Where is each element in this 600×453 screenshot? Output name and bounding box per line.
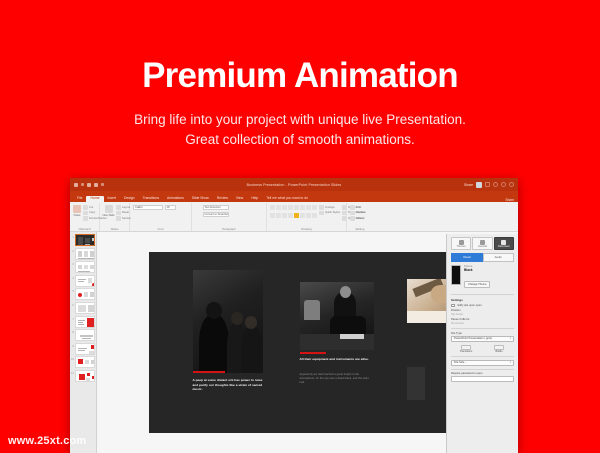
tab-themes[interactable]: Themes: [451, 237, 471, 250]
fill-bucket-icon: [342, 205, 347, 210]
quick-styles-button[interactable]: Quick Styles: [319, 211, 340, 216]
copy-label: Copy: [89, 211, 95, 214]
properties-tab-strip: Themes General Document: [451, 237, 514, 250]
slide-thumbnail[interactable]: [75, 288, 95, 300]
theme-value: Black: [464, 268, 490, 272]
divider: [451, 294, 514, 295]
group-label-clipboard: Clipboard: [73, 227, 96, 232]
reset-icon: [116, 211, 121, 216]
visual-audio-segmented-control[interactable]: Visual Audio: [451, 253, 514, 261]
accent-bar-1: [193, 371, 225, 373]
slide-caption-1[interactable]: A peep at some distant orb has power to …: [193, 378, 265, 392]
divider: [451, 356, 514, 357]
reset-button[interactable]: Reset: [116, 211, 131, 216]
watermark: www.25xt.com: [8, 435, 86, 447]
file-size-label: File Size...: [454, 361, 467, 364]
chevron-down-icon: ▾: [510, 337, 511, 340]
divider: [451, 328, 514, 329]
tab-general-label: General: [478, 245, 487, 248]
file-size-select[interactable]: File Size... ▾: [451, 360, 514, 366]
segment-visual[interactable]: Visual: [451, 253, 483, 261]
list-item[interactable]: 10: [71, 356, 95, 368]
slide-thumbnail[interactable]: [75, 234, 95, 246]
slide-caption-2-body[interactable]: Apparently we had reached a great height…: [300, 373, 374, 386]
tab-insert[interactable]: Insert: [104, 196, 120, 202]
slide-number: 5: [71, 288, 74, 293]
layout-label: Layout: [122, 206, 130, 209]
slide-number: 6: [71, 302, 74, 307]
paintbrush-icon: [83, 216, 88, 221]
slide-thumbnail-panel[interactable]: 1 2 3: [70, 232, 97, 453]
document-icon: [501, 240, 506, 245]
shape-banner-icon[interactable]: [300, 213, 305, 218]
slide-thumbnail[interactable]: [75, 329, 95, 341]
divider: [451, 369, 514, 370]
slide-thumbnail[interactable]: [75, 370, 95, 382]
arrange-icon: [319, 205, 324, 210]
shape-rounded-icon[interactable]: [276, 205, 281, 210]
scissors-icon: [83, 205, 88, 210]
tab-document-label: Document: [498, 245, 509, 248]
shape-flow-icon[interactable]: [306, 213, 311, 218]
convert-to-smartart-button[interactable]: Convert to SmartArt: [203, 212, 229, 217]
arrange-button[interactable]: Arrange: [319, 205, 340, 210]
replace-button[interactable]: Replace: [350, 211, 370, 216]
list-item[interactable]: 5: [71, 288, 95, 300]
accent-bar-2: [300, 352, 326, 354]
tab-slide-show[interactable]: Slide Show: [188, 196, 213, 202]
tab-design[interactable]: Design: [120, 196, 139, 202]
list-item[interactable]: 3: [71, 261, 95, 273]
hero-subtitle-line-2: Great collection of smooth animations.: [0, 130, 600, 150]
builds-icon[interactable]: [494, 345, 504, 350]
properties-panel[interactable]: Themes General Document Visual Audio The…: [446, 234, 518, 453]
shape-rect-icon[interactable]: [270, 205, 275, 210]
section-button[interactable]: Section: [116, 216, 131, 221]
section-icon: [116, 216, 121, 221]
slide-number: 10: [71, 356, 74, 361]
arrange-label: Arrange: [325, 206, 335, 209]
powerpoint-window: Business Presentation - PowerPoint Prese…: [70, 178, 518, 453]
new-slide-label: New Slide: [102, 214, 114, 217]
idle-value: 30 seconds: [451, 322, 514, 325]
slide-photo-2[interactable]: [300, 282, 374, 350]
gear-icon: [480, 240, 485, 245]
tab-document[interactable]: Document: [494, 237, 514, 250]
page-title: Premium Animation: [0, 58, 600, 93]
select-label: Select: [356, 217, 363, 220]
list-item[interactable]: 8: [71, 329, 95, 341]
slide-thumbnail[interactable]: [75, 343, 95, 355]
tab-view[interactable]: View: [232, 196, 247, 202]
paint-palette-icon: [459, 240, 464, 245]
shape-triangle-icon[interactable]: [288, 205, 293, 210]
theme-row: Theme Black Change Theme: [451, 265, 514, 291]
shape-highlight-icon[interactable]: [294, 213, 299, 218]
segment-audio[interactable]: Audio: [483, 253, 515, 261]
tab-transitions[interactable]: Transitions: [139, 196, 163, 202]
slide-photo-1[interactable]: [193, 270, 263, 373]
hero-subtitle: Bring life into your project with unique…: [0, 110, 600, 149]
copy-icon: [83, 211, 88, 216]
slide-caption-2-heading[interactable]: All their equipment and instruments are …: [300, 357, 374, 362]
shape-cross-icon[interactable]: [288, 213, 293, 218]
font-name-input[interactable]: Calibri: [133, 205, 163, 210]
hero-subtitle-line-1: Bring life into your project with unique…: [0, 110, 600, 130]
window-titlebar: Business Presentation - PowerPoint Prese…: [70, 178, 518, 191]
ribbon-group-paragraph: Text Direction Convert to SmartArt Parag…: [192, 203, 267, 231]
slide-number: 9: [71, 343, 74, 348]
ribbon-group-font: Calibri 18 Font: [130, 203, 192, 231]
find-label: Find: [356, 206, 361, 209]
transitions-label: Transitions: [451, 350, 481, 353]
slide-thumbnail[interactable]: [75, 316, 95, 328]
quick-styles-icon: [319, 211, 324, 216]
builds-toggle[interactable]: Builds: [484, 345, 514, 354]
font-size-input[interactable]: 18: [165, 205, 176, 210]
notify-on-open-checkbox[interactable]: Notify site upon open: [451, 304, 514, 308]
effects-icon: [342, 216, 347, 221]
shape-diamond-icon[interactable]: [282, 213, 287, 218]
slide-number: 1: [71, 234, 74, 239]
position-label: Position: [451, 309, 514, 312]
position-value: Top Center: [451, 313, 514, 316]
group-label-editing: Editing: [350, 227, 370, 232]
ribbon-group-slides: New Slide Layout Reset Section: [100, 203, 130, 231]
slide-thumbnail[interactable]: [75, 248, 95, 260]
paste-label: Paste: [74, 214, 81, 217]
ribbon-group-clipboard: Paste Cut Copy Format Painter: [70, 203, 100, 231]
slide-number: 8: [71, 329, 74, 334]
tab-file[interactable]: File: [73, 196, 86, 202]
cut-label: Cut: [89, 206, 93, 209]
tab-themes-label: Themes: [457, 245, 466, 248]
group-label-drawing: Drawing: [270, 227, 343, 232]
ribbon-group-editing: Find Replace Select Editing: [347, 203, 373, 231]
file-type-value: PowerPoint Presentation (.pptx): [454, 337, 492, 340]
active-slide[interactable]: A peep at some distant orb has power to …: [149, 252, 467, 433]
slide-number: 11: [71, 370, 74, 375]
select-icon: [350, 216, 355, 221]
password-input[interactable]: [451, 376, 514, 382]
ribbon-group-drawing: Arrange Quick Styles Shape Fill Shape Ou…: [267, 203, 347, 231]
ribbon-tab-strip: File Home Insert Design Transitions Anim…: [70, 191, 518, 202]
paste-icon: [73, 205, 81, 213]
theme-swatch[interactable]: [451, 265, 461, 285]
search-icon: [350, 205, 355, 210]
notify-on-open-label: Notify site upon open: [457, 304, 482, 307]
tell-me-search[interactable]: Tell me what you want to do: [262, 196, 312, 202]
reset-label: Reset: [122, 211, 129, 214]
layout-icon: [116, 205, 121, 210]
list-item[interactable]: 7: [71, 316, 95, 328]
change-theme-button[interactable]: Change Theme: [464, 281, 490, 288]
slide-shape-block[interactable]: [407, 367, 425, 400]
builds-label: Builds: [484, 350, 514, 353]
ribbon-share-area[interactable]: Share: [505, 198, 514, 202]
replace-icon: [350, 211, 355, 216]
slide-thumbnail[interactable]: [75, 261, 95, 273]
tab-animations[interactable]: Animations: [163, 196, 188, 202]
slide-number: 3: [71, 261, 74, 266]
transitions-icon[interactable]: [461, 345, 471, 350]
shape-callout-icon[interactable]: [312, 205, 317, 210]
list-item[interactable]: 6: [71, 302, 95, 314]
chevron-down-icon: ▾: [510, 361, 511, 364]
file-type-label: File Type: [451, 332, 514, 335]
slide-number: 7: [71, 316, 74, 321]
window-title: Business Presentation - PowerPoint Prese…: [70, 183, 518, 187]
slide-thumbnail[interactable]: [75, 302, 95, 314]
replace-label: Replace: [356, 211, 366, 214]
outline-icon: [342, 211, 347, 216]
password-label: Require password to open: [451, 372, 514, 375]
paste-button[interactable]: Paste: [73, 205, 81, 217]
transition-build-toggles: Transitions Builds: [451, 345, 514, 354]
group-label-font: Font: [133, 227, 188, 232]
layout-button[interactable]: Layout: [116, 205, 131, 210]
file-type-select[interactable]: PowerPoint Presentation (.pptx) ▾: [451, 336, 514, 342]
transitions-toggle[interactable]: Transitions: [451, 345, 481, 354]
list-item[interactable]: 11: [71, 370, 95, 382]
checkbox-icon[interactable]: [451, 304, 455, 308]
new-slide-icon: [105, 205, 113, 213]
list-item[interactable]: 1: [71, 234, 95, 246]
slide-number: 4: [71, 275, 74, 280]
group-label-slides: Slides: [103, 227, 126, 232]
group-label-paragraph: Paragraph: [195, 227, 263, 232]
list-item[interactable]: 4: [71, 275, 95, 287]
list-item[interactable]: 2: [71, 248, 95, 260]
new-slide-button[interactable]: New Slide: [103, 205, 114, 217]
text-direction-button[interactable]: Text Direction: [203, 205, 229, 210]
idle-label: Pause if idle for: [451, 318, 514, 321]
hero-section: Premium Animation Bring life into your p…: [0, 0, 600, 149]
ribbon-share-label[interactable]: Share: [505, 198, 514, 202]
tab-review[interactable]: Review: [213, 196, 232, 202]
shapes-gallery[interactable]: [270, 205, 317, 221]
tab-general[interactable]: General: [472, 237, 492, 250]
slide-thumbnail[interactable]: [75, 275, 95, 287]
shape-more-icon[interactable]: [312, 213, 317, 218]
quick-styles-label: Quick Styles: [325, 211, 340, 214]
shape-star-icon[interactable]: [306, 205, 311, 210]
theme-meta: Theme Black Change Theme: [464, 265, 490, 291]
shape-hexagon-icon[interactable]: [276, 213, 281, 218]
list-item[interactable]: 9: [71, 343, 95, 355]
shape-arrow-icon[interactable]: [294, 205, 299, 210]
shape-pentagon-icon[interactable]: [270, 213, 275, 218]
select-button[interactable]: Select: [350, 216, 370, 221]
slide-number: 2: [71, 248, 74, 253]
settings-heading: Settings: [451, 298, 514, 302]
shape-oval-icon[interactable]: [282, 205, 287, 210]
slide-thumbnail[interactable]: [75, 356, 95, 368]
ribbon-toolbar: Paste Cut Copy Format Painter: [70, 202, 518, 232]
shape-line-icon[interactable]: [300, 205, 305, 210]
find-button[interactable]: Find: [350, 205, 370, 210]
tab-help[interactable]: Help: [247, 196, 262, 202]
tab-home[interactable]: Home: [86, 196, 103, 202]
